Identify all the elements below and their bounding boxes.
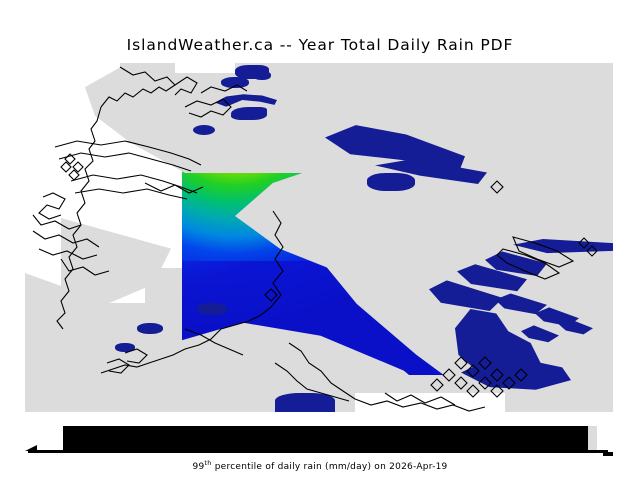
colorbar-caption: 99th percentile of daily rain (mm/day) o… xyxy=(0,459,640,472)
water-navy-inlet-mid xyxy=(367,173,415,191)
water-navy-sound-upper xyxy=(231,107,267,120)
colorbar-baseline-rule xyxy=(28,450,608,453)
water-navy-lake-small xyxy=(115,343,135,352)
water-navy-lake-mid xyxy=(197,303,227,315)
caption-percentile: 99 xyxy=(192,462,204,472)
colorbar-right-tick xyxy=(603,452,613,456)
colorbar-gradient xyxy=(63,426,588,450)
water-navy-lake-west xyxy=(137,323,163,334)
water-navy-inlet-small-1 xyxy=(193,125,215,135)
white-land-pocket-north xyxy=(175,63,235,73)
colorbar[interactable] xyxy=(25,424,613,454)
water-navy-top-inlet-c xyxy=(253,71,271,80)
water-navy-bottom-pocket xyxy=(275,393,335,412)
page-title: IslandWeather.ca -- Year Total Daily Rai… xyxy=(0,36,640,54)
caption-percentile-suffix: th xyxy=(204,459,211,467)
water-navy-top-inlet-b xyxy=(221,77,249,88)
caption-remainder: percentile of daily rain (mm/day) on 202… xyxy=(212,462,448,472)
map-plot-area[interactable] xyxy=(25,63,613,412)
white-land-pocket-south xyxy=(355,393,505,412)
colorbar-end-segment xyxy=(588,426,597,450)
